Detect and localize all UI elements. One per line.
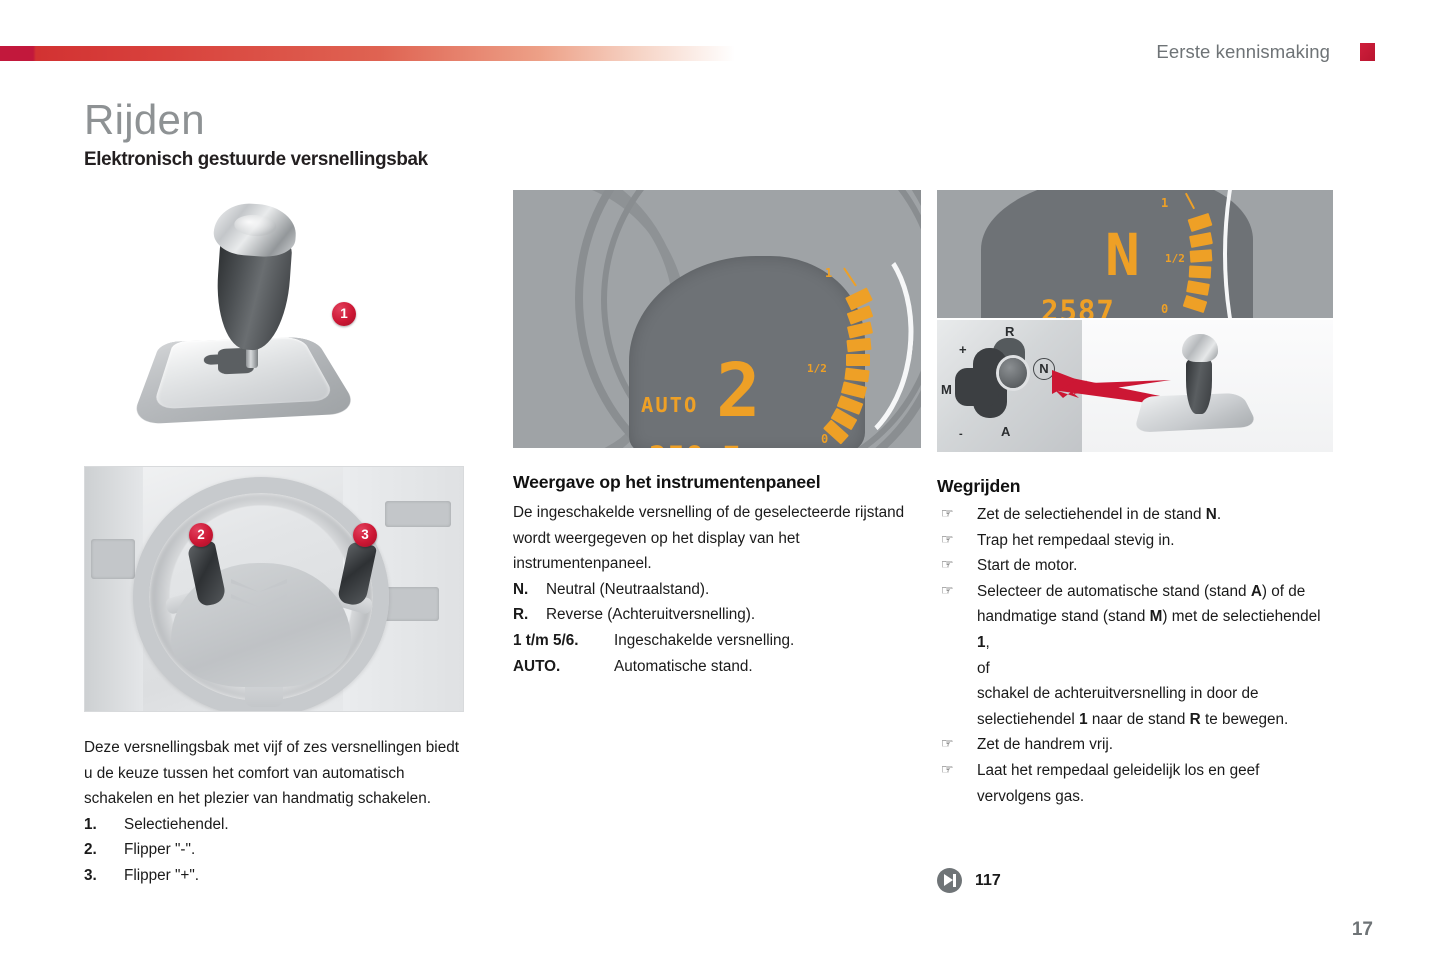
middle-heading: Weergave op het instrumentenpaneel [513,470,921,494]
step-item: ☞ Laat het rempedaal geleidelijk los en … [937,758,1333,809]
step-item: ☞ Selecteer de automatische stand (stand… [937,579,1333,733]
display-definitions-list: N. Neutral (Neutraalstand). R. Reverse (… [513,577,921,679]
page-number: 17 [1352,919,1373,941]
hand-pointer-icon: ☞ [941,552,954,578]
step-text: Zet de selectiehendel in de stand [977,506,1206,523]
definition-text: Automatische stand. [614,654,753,680]
lcd-mode-label: AUTO [641,393,698,417]
lcd-odometer: 258.7 [649,440,741,448]
page-title: Rijden [84,96,205,144]
hand-pointer-icon: ☞ [941,757,954,783]
definition-key: R. [513,602,546,628]
legend-list: 1. Selectiehendel. 2. Flipper "-". 3. Fl… [84,812,466,889]
figure-selector-and-lever: R A + - M N [937,320,1333,452]
definition-row: N. Neutral (Neutraalstand). [513,577,921,603]
legend-key: 1. [84,812,124,838]
gear-lever-photo [1082,320,1333,452]
skip-forward-icon [937,868,962,893]
air-vent-upper [385,501,451,527]
left-column: 1 2 3 Deze versnellingsbak met vijf of z… [84,190,466,889]
figure-steering-wheel: 2 3 [84,466,464,712]
definition-key: 1 t/m 5/6. [513,628,614,654]
step-item: ☞ Zet de selectiehendel in de stand N. [937,502,1333,528]
definition-row: R. Reverse (Achteruitversnelling). [513,602,921,628]
legend-text: Selectiehendel. [124,812,229,838]
legend-item: 2. Flipper "-". [84,837,466,863]
definition-text: Reverse (Achteruitversnelling). [546,602,755,628]
middle-paragraph: De ingeschakelde versnelling of de gesel… [513,500,921,577]
callout-marker-2: 2 [189,523,213,547]
definition-text: Ingeschakelde versnelling. [614,628,794,654]
legend-key: 2. [84,837,124,863]
right-column: N 2587 1 1/2 0 R A + - M N [937,190,1333,809]
step-text: Trap het rempedaal stevig in. [977,532,1175,549]
header-section-label: Eerste kennismaking [1156,41,1330,63]
gate-label-plus: + [959,342,967,357]
legend-text: Flipper "-". [124,837,195,863]
step-text-rich: Selecteer de automatische stand (stand A… [977,583,1321,651]
lever-knob-chrome-cap [212,201,297,259]
callout-marker-3: 3 [353,523,377,547]
lever-knob-chrome-cap [1182,334,1218,362]
definition-row: AUTO. Automatische stand. [513,654,921,680]
step-extra-line: of [977,656,1333,682]
header-accent-bar [0,46,735,61]
legend-item: 3. Flipper "+". [84,863,466,889]
step-extra-line: schakel de achteruitversnelling in door … [977,681,1333,732]
middle-column: AUTO 2 258.7 2009 km 1 1/2 0 Weergave op… [513,190,921,679]
step-item: ☞ Start de motor. [937,553,1333,579]
air-vent-side [91,539,135,579]
lcd-odometer: 2587 [1041,294,1115,318]
definition-key: N. [513,577,546,603]
step-text: Start de motor. [977,557,1077,574]
figure-gear-lever: 1 [84,190,466,452]
legend-key: 3. [84,863,124,889]
fuel-gauge-label-half: 1/2 [1165,252,1185,265]
fuel-gauge-label-empty: 0 [1161,302,1168,316]
step-emphasis: N [1206,506,1217,523]
step-item: ☞ Zet de handrem vrij. [937,732,1333,758]
gate-manual-channel [955,368,999,406]
intro-paragraph: Deze versnellingsbak met vijf of zes ver… [84,735,466,812]
citroen-logo-icon [231,579,291,615]
definition-text: Neutral (Neutraalstand). [546,577,709,603]
figure-instrument-cluster: AUTO 2 258.7 2009 km 1 1/2 0 [513,190,921,448]
header-accent-square [1360,43,1375,61]
steps-list: ☞ Zet de selectiehendel in de stand N. ☞… [937,502,1333,809]
cross-reference-page: 117 [975,872,1001,890]
hand-pointer-icon: ☞ [941,527,954,553]
definition-key: AUTO. [513,654,614,680]
selector-knob-position[interactable] [999,358,1027,388]
hand-pointer-icon: ☞ [941,578,954,604]
air-vent-lower [381,587,439,621]
hand-pointer-icon: ☞ [941,731,954,757]
step-suffix: . [1217,506,1221,523]
callout-marker-1: 1 [332,302,356,326]
gate-label-reverse: R [1005,324,1014,339]
page-subtitle: Elektronisch gestuurde versnellingsbak [84,148,428,171]
definition-row: 1 t/m 5/6. Ingeschakelde versnelling. [513,628,921,654]
fuel-gauge-label-full: 1 [1161,196,1168,210]
cluster-highlight-arc [1223,190,1333,318]
step-text: Zet de handrem vrij. [977,736,1113,753]
lcd-gear-indicator: N [1105,226,1140,284]
gear-lever-illustration: 1 [180,198,390,448]
step-item: ☞ Trap het rempedaal stevig in. [937,528,1333,554]
gate-label-auto: A [1001,424,1010,439]
step-text: Laat het rempedaal geleidelijk los en ge… [977,762,1259,805]
gate-label-manual: M [941,382,952,397]
legend-text: Flipper "+". [124,863,199,889]
figure-instrument-cluster-neutral: N 2587 1 1/2 0 [937,190,1333,318]
cross-reference[interactable]: 117 [937,868,1001,893]
lever-shaft [1186,358,1212,414]
gate-label-minus: - [959,428,963,440]
right-heading: Wegrijden [937,474,1333,498]
legend-item: 1. Selectiehendel. [84,812,466,838]
hand-pointer-icon: ☞ [941,501,954,527]
